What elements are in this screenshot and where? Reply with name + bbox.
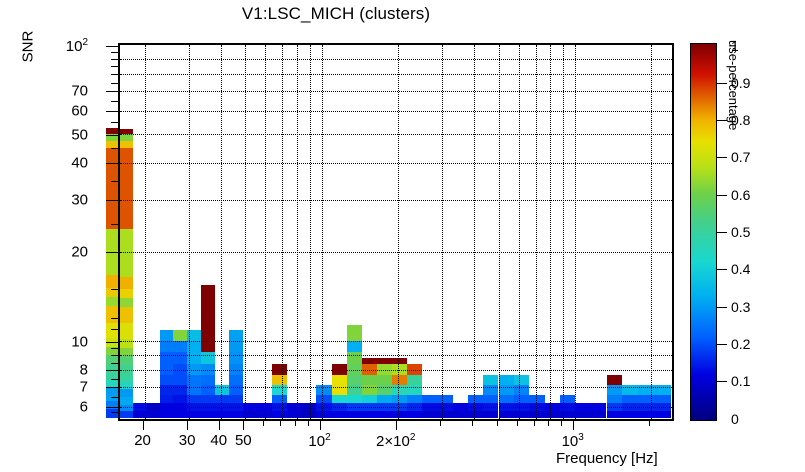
y-axis-tick: [106, 252, 118, 253]
colorbar-tick: [717, 195, 727, 196]
y-axis-tick: [106, 387, 118, 388]
y-axis-tick: [111, 59, 118, 60]
y-axis-tick: [111, 355, 118, 356]
heatmap-cell: [173, 364, 187, 375]
colorbar-tick-label: 0.1: [731, 373, 750, 389]
heatmap-cell: [347, 385, 362, 394]
heatmap-cell: [392, 403, 407, 412]
x-axis-tick: [280, 421, 281, 426]
heatmap-cell: [468, 395, 483, 403]
heatmap-cell: [591, 403, 606, 412]
y-axis-minor-tick: [111, 101, 118, 102]
heatmap-cell: [120, 411, 133, 418]
heatmap-cell: [638, 403, 671, 412]
heatmap-cell: [301, 403, 316, 412]
heatmap-cell: [607, 395, 622, 403]
heatmap-cell: [201, 285, 215, 308]
heatmap-cell: [120, 389, 133, 397]
y-axis-tick: [106, 91, 118, 92]
x-axis-tick: [219, 421, 220, 430]
heatmap-cell: [347, 325, 362, 341]
heatmap-cell: [120, 277, 133, 289]
heatmap-cell: [332, 385, 347, 394]
x-axis-tick: [649, 421, 650, 426]
y-axis-tick-label: 102: [66, 37, 88, 55]
heatmap-cell: [133, 403, 147, 412]
heatmap-cell: [173, 330, 187, 341]
heatmap-cell: [332, 364, 347, 375]
heatmap-cell: [483, 411, 498, 418]
heatmap-cell: [407, 411, 422, 418]
heatmap-cell: [514, 375, 529, 385]
heatmap-cell: [362, 395, 377, 403]
heatmap-cell: [483, 395, 498, 403]
x-axis-tick-label: 20: [134, 432, 151, 449]
heatmap-cell: [607, 375, 622, 385]
heatmap-cell: [514, 403, 529, 412]
heatmap-cell: [483, 385, 498, 394]
heatmap-cell: [392, 395, 407, 403]
heatmap-cell: [201, 375, 215, 385]
colorbar-tick: [717, 232, 727, 233]
heatmap-cell: [392, 364, 407, 375]
x-axis-tick-label: 2×102: [376, 432, 415, 450]
heatmap-cell: [173, 352, 187, 364]
heatmap-cell: [347, 341, 362, 352]
heatmap-cell: [347, 364, 362, 375]
y-axis-tick: [106, 370, 118, 371]
x-axis-tick: [320, 421, 321, 430]
heatmap-cell: [243, 411, 258, 418]
heatmap-cell: [332, 375, 347, 385]
heatmap-cell: [120, 405, 133, 411]
heatmap-cell: [483, 375, 498, 385]
heatmap-cell: [258, 411, 273, 418]
colorbar-tick: [717, 381, 727, 382]
x-axis-tick: [263, 421, 264, 426]
heatmap-cell: [120, 289, 133, 298]
heatmap-cell: [120, 141, 133, 148]
heatmap-cell: [575, 403, 591, 412]
x-axis-tick: [440, 421, 441, 426]
heatmap-cell: [347, 403, 362, 412]
heatmap-cell: [499, 403, 514, 412]
heatmap-cell: [272, 395, 286, 403]
heatmap-cell: [392, 385, 407, 394]
heatmap-cell: [229, 375, 243, 385]
heatmap-cell: [607, 403, 622, 412]
heatmap-cell: [377, 375, 392, 385]
y-axis-minor-tick: [111, 363, 118, 364]
heatmap-cell: [499, 395, 514, 403]
heatmap-cell: [422, 395, 437, 403]
y-axis-minor-tick: [111, 83, 118, 84]
y-axis-tick: [106, 407, 118, 408]
x-axis: 203040501022×102103: [118, 421, 674, 465]
heatmap-cell: [120, 373, 133, 382]
heatmap-cell: [377, 395, 392, 403]
heatmap-cell: [120, 307, 133, 323]
y-axis-tick-label: 60: [71, 103, 88, 120]
y-axis-minor-tick: [111, 412, 118, 413]
y-axis-minor-tick: [111, 329, 118, 330]
heatmap-cell: [229, 352, 243, 364]
heatmap-cell: [229, 395, 243, 403]
heatmap-cell: [638, 385, 671, 394]
heatmap-cell: [120, 382, 133, 389]
y-axis-minor-tick: [111, 122, 118, 123]
heatmap-cell: [187, 330, 201, 341]
heatmap-cell: [347, 375, 362, 385]
colorbar-tick-label: 0.4: [731, 261, 750, 277]
y-axis-tick-label: 10: [71, 333, 88, 350]
colorbar-tick-label: 0.2: [731, 336, 750, 352]
heatmap-cell: [392, 375, 407, 385]
heatmap-cell: [201, 352, 215, 364]
heatmap-cell: [622, 411, 638, 418]
heatmap-cell: [377, 385, 392, 394]
x-axis-tick: [534, 421, 535, 426]
heatmap-cell: [362, 375, 377, 385]
plot-frame: [118, 43, 674, 421]
x-axis-tick: [143, 421, 144, 430]
y-axis-minor-tick: [111, 224, 118, 225]
heatmap-cell: [316, 385, 332, 394]
heatmap-cell: [160, 403, 173, 412]
y-axis-tick: [106, 163, 118, 164]
heatmap-cell: [160, 411, 173, 418]
heatmap-cell: [332, 403, 347, 412]
heatmap-cell: [362, 358, 377, 364]
heatmap-cell: [120, 397, 133, 405]
heatmap-cell: [622, 385, 638, 394]
x-axis-tick: [561, 421, 562, 426]
heatmap-cell: [229, 385, 243, 394]
heatmap-cell: [622, 403, 638, 412]
heatmap-cell: [229, 411, 243, 418]
x-axis-tick: [243, 421, 244, 430]
heatmap-cell: [362, 385, 377, 394]
heatmap-cell: [229, 341, 243, 352]
heatmap-cell: [316, 395, 332, 403]
heatmap-cell: [377, 364, 392, 375]
heatmap-cell: [187, 375, 201, 385]
heatmap-cell: [229, 403, 243, 412]
heatmap-cell: [201, 364, 215, 375]
colorbar-tick: [717, 157, 727, 158]
heatmap-cell: [422, 403, 437, 412]
heatmap-cell: [560, 395, 575, 403]
heatmap-cell: [160, 395, 173, 403]
heatmap-cell: [272, 385, 286, 394]
heatmap-cell: [560, 403, 575, 412]
y-axis-minor-tick: [111, 52, 118, 53]
heatmap-cell: [499, 375, 514, 385]
colorbar-tick: [717, 46, 727, 47]
colorbar-tick-label: 1: [731, 38, 739, 54]
heatmap-cell: [560, 411, 575, 418]
heatmap-cell: [514, 385, 529, 394]
x-axis-tick: [187, 421, 188, 430]
heatmap-cell: [201, 307, 215, 323]
colorbar-tick-label: 0.6: [731, 187, 750, 203]
y-axis-tick-label: 30: [71, 192, 88, 209]
heatmap-cell: [160, 375, 173, 385]
heatmap-cell: [377, 411, 392, 418]
heatmap-cell: [287, 411, 301, 418]
colorbar-tick-label: 0.5: [731, 224, 750, 240]
x-axis-tick: [517, 421, 518, 426]
heatmap-cell: [187, 403, 201, 412]
heatmap-cell: [499, 411, 514, 418]
heatmap-cell: [392, 411, 407, 418]
heatmap-cells: [120, 45, 672, 419]
heatmap-cell: [607, 385, 622, 394]
colorbar: [690, 43, 717, 421]
heatmap-cell: [187, 364, 201, 375]
y-axis-tick-label: 20: [71, 244, 88, 261]
heatmap-cell: [243, 403, 258, 412]
heatmap-cell: [147, 411, 160, 418]
heatmap-cell: [160, 330, 173, 341]
heatmap-cell: [215, 395, 229, 403]
heatmap-cell: [607, 411, 622, 418]
heatmap-cell: [173, 385, 187, 394]
heatmap-cell: [120, 134, 133, 141]
heatmap-cell: [347, 395, 362, 403]
heatmap-cell: [453, 403, 469, 412]
heatmap-cell: [362, 403, 377, 412]
heatmap-cell: [316, 411, 332, 418]
heatmap-cell: [529, 411, 545, 418]
heatmap-cell: [120, 348, 133, 356]
colorbar-tick: [717, 269, 727, 270]
heatmap-cell: [407, 364, 422, 375]
y-axis-tick: [106, 200, 118, 201]
heatmap-cell: [545, 403, 560, 412]
y-axis-minor-tick: [111, 318, 118, 319]
x-axis-tick: [295, 421, 296, 426]
x-axis-tick-label: 50: [235, 432, 252, 449]
heatmap-cell: [362, 411, 377, 418]
colorbar-axis: 10.90.80.70.60.50.40.30.20.10: [717, 43, 757, 421]
x-axis-tick-label: 102: [308, 432, 330, 450]
y-axis-minor-tick: [111, 148, 118, 149]
heatmap-cell: [545, 411, 560, 418]
heatmap-cell: [187, 395, 201, 403]
y-axis-tick: [106, 46, 118, 47]
heatmap-cell: [173, 411, 187, 418]
heatmap-cell: [173, 395, 187, 403]
heatmap-cell: [575, 411, 591, 418]
heatmap-cell: [437, 411, 453, 418]
heatmap-cell: [187, 411, 201, 418]
heatmap-cell: [173, 403, 187, 412]
heatmap-cell: [287, 403, 301, 412]
heatmap-cell: [120, 129, 133, 134]
heatmap-cell: [187, 341, 201, 352]
colorbar-tick: [717, 344, 727, 345]
y-axis-tick-label: 6: [80, 399, 88, 416]
heatmap-cell: [638, 395, 671, 403]
colorbar-tick: [717, 120, 727, 121]
heatmap-cell: [272, 403, 286, 412]
heatmap-cell: [120, 365, 133, 373]
heatmap-cell: [201, 395, 215, 403]
page-title: V1:LSC_MICH (clusters): [0, 4, 672, 24]
heatmap-cell: [316, 403, 332, 412]
colorbar-tick-label: 0: [731, 411, 739, 427]
y-axis-minor-tick: [111, 379, 118, 380]
heatmap-cell: [437, 395, 453, 403]
heatmap-cell: [120, 229, 133, 277]
y-axis-minor-tick: [111, 348, 118, 349]
heatmap-cell: [201, 323, 215, 341]
y-axis-tick-label: 50: [71, 126, 88, 143]
x-axis-tick: [472, 421, 473, 426]
heatmap-cell: [272, 364, 286, 375]
heatmap-cell: [120, 323, 133, 338]
y-axis-tick: [106, 135, 118, 136]
colorbar-tick-label: 0.7: [731, 149, 750, 165]
heatmap-cell: [407, 375, 422, 385]
heatmap-cell: [160, 385, 173, 394]
heatmap-cell: [529, 403, 545, 412]
x-axis-tick: [396, 421, 397, 430]
x-axis-tick: [573, 421, 574, 430]
heatmap-cell: [468, 403, 483, 412]
y-axis-title: SNR: [20, 11, 37, 83]
y-axis-minor-tick: [111, 66, 118, 67]
x-axis-tick: [497, 421, 498, 426]
heatmap-cell: [362, 364, 377, 375]
heatmap-cell: [407, 403, 422, 412]
heatmap-cell: [160, 341, 173, 352]
heatmap-cell: [638, 411, 671, 418]
colorbar-gradient: [691, 44, 716, 420]
heatmap-cell: [407, 385, 422, 394]
heatmap-cell: [120, 148, 133, 229]
heatmap-cell: [173, 375, 187, 385]
heatmap-cell: [377, 403, 392, 412]
heatmap-cell: [229, 330, 243, 341]
heatmap-cell: [120, 298, 133, 308]
heatmap-cell: [160, 364, 173, 375]
heatmap-cell: [377, 358, 392, 364]
y-axis-minor-tick: [111, 289, 118, 290]
y-axis: 10270605040302010876: [92, 43, 118, 421]
heatmap-cell: [622, 395, 638, 403]
heatmap-cell: [187, 352, 201, 364]
plot-canvas: V1:LSC_MICH (clusters) SNR Frequency [Hz…: [0, 0, 805, 472]
heatmap-cell: [258, 403, 273, 412]
heatmap-cell: [514, 395, 529, 403]
heatmap-cell: [201, 385, 215, 394]
x-axis-tick: [548, 421, 549, 426]
y-axis-tick: [106, 111, 118, 112]
y-axis-minor-tick: [111, 181, 118, 182]
y-axis-tick-label: 40: [71, 155, 88, 172]
heatmap-cell: [160, 352, 173, 364]
heatmap-cell: [407, 395, 422, 403]
heatmap-cell: [499, 385, 514, 394]
heatmap-cell: [422, 411, 437, 418]
heatmap-cell: [392, 358, 407, 364]
colorbar-tick: [717, 419, 727, 420]
heatmap-cell: [483, 403, 498, 412]
heatmap-cell: [332, 411, 347, 418]
y-axis-tick-label: 7: [80, 379, 88, 396]
heatmap-cell: [347, 411, 362, 418]
x-axis-tick: [308, 421, 309, 426]
x-axis-tick-label: 40: [210, 432, 227, 449]
heatmap-cell: [453, 411, 469, 418]
x-axis-tick-label: 103: [562, 432, 584, 450]
heatmap-cell: [301, 411, 316, 418]
heatmap-cell: [514, 411, 529, 418]
heatmap-cell: [201, 411, 215, 418]
heatmap-cell: [229, 364, 243, 375]
x-axis-tick-label: 30: [179, 432, 196, 449]
heatmap-cell: [272, 411, 286, 418]
y-axis-tick-label: 8: [80, 362, 88, 379]
heatmap-cell: [173, 341, 187, 352]
colorbar-tick: [717, 83, 727, 84]
heatmap-cell: [120, 356, 133, 365]
colorbar-tick-label: 0.3: [731, 299, 750, 315]
colorbar-tick-label: 0.9: [731, 75, 750, 91]
heatmap-cell: [347, 352, 362, 364]
heatmap-cell: [591, 411, 606, 418]
y-axis-tick: [106, 342, 118, 343]
y-axis-tick: [111, 74, 118, 75]
heatmap-cell: [133, 411, 147, 418]
y-axis-minor-tick: [111, 397, 118, 398]
heatmap-cell: [332, 395, 347, 403]
heatmap-cell: [201, 341, 215, 352]
heatmap-cell: [215, 403, 229, 412]
heatmap-cell: [201, 403, 215, 412]
colorbar-tick-label: 0.8: [731, 112, 750, 128]
heatmap-cell: [215, 385, 229, 394]
heatmap-cell: [437, 403, 453, 412]
y-axis-tick-label: 70: [71, 83, 88, 100]
heatmap-cell: [215, 411, 229, 418]
heatmap-cell: [120, 339, 133, 348]
heatmap-cell: [468, 411, 483, 418]
heatmap-cell: [187, 385, 201, 394]
heatmap-cell: [272, 375, 286, 385]
colorbar-tick: [717, 307, 727, 308]
heatmap-cell: [147, 403, 160, 412]
heatmap-cell: [529, 395, 545, 403]
